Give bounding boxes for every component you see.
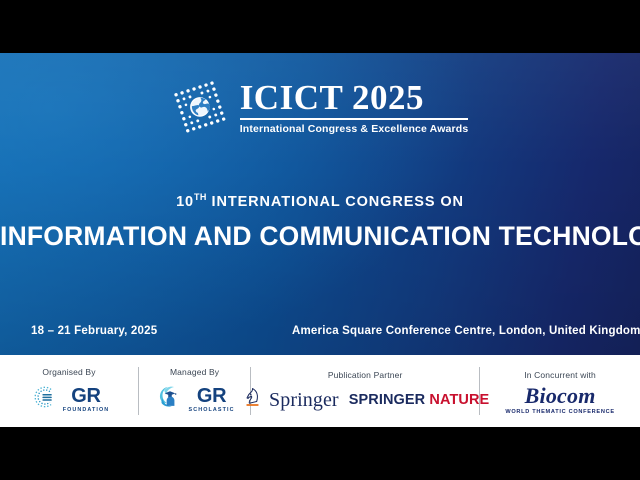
in-concurrent-with-logos: Biocom WORLD THEMATIC CONFERENCE <box>505 385 614 415</box>
springer-nature-logo[interactable]: SPRINGER NATURE <box>349 392 490 408</box>
kicker-text: INTERNATIONAL CONGRESS ON <box>207 194 464 210</box>
partner-cell-organised: Organised By <box>0 355 138 427</box>
partner-bar: Organised By <box>0 355 640 427</box>
springer-wordmark: Springer <box>269 390 339 410</box>
dotted-diamond-globe-icon <box>172 79 228 135</box>
managed-by-label: Managed By <box>170 367 219 377</box>
event-wordmark: ICICT 2025 <box>240 80 424 116</box>
managed-by-logos: GR SCHOLASTIC <box>155 382 235 417</box>
organised-by-logos: GR FOUNDATION <box>29 382 110 417</box>
gr-foundation-logo[interactable]: GR FOUNDATION <box>29 382 110 417</box>
gr-foundation-sub: FOUNDATION <box>63 408 110 413</box>
kicker-number: 10 <box>176 194 194 210</box>
event-kicker: 10TH INTERNATIONAL CONGRESS ON <box>0 188 640 211</box>
partner-cell-publication: Publication Partner Springer SPRINGER NA… <box>251 355 479 427</box>
springer-logo[interactable]: Springer <box>241 385 339 415</box>
gr-scholastic-sub: SCHOLASTIC <box>189 408 235 413</box>
partner-cell-concurrent: In Concurrent with Biocom WORLD THEMATIC… <box>480 355 640 427</box>
gr-scholastic-logo[interactable]: GR SCHOLASTIC <box>155 382 235 417</box>
springer-knight-icon <box>241 385 264 415</box>
event-logo-lockup: ICICT 2025 International Congress & Exce… <box>0 79 640 135</box>
biocom-sub: WORLD THEMATIC CONFERENCE <box>505 409 614 415</box>
event-dates: 18 – 21 February, 2025 <box>31 325 157 337</box>
letterbox-bottom <box>0 427 640 480</box>
logo-divider-rule <box>240 118 469 120</box>
gr-foundation-text: GR FOUNDATION <box>63 386 110 413</box>
conference-banner: ICICT 2025 International Congress & Exce… <box>0 53 640 355</box>
gr-foundation-emblem-icon <box>29 382 59 417</box>
organised-by-label: Organised By <box>42 367 95 377</box>
biocom-wordmark: Biocom <box>525 385 596 407</box>
event-tagline: International Congress & Excellence Awar… <box>240 123 469 135</box>
publication-partner-logos: Springer SPRINGER NATURE <box>241 385 489 415</box>
video-frame: ICICT 2025 International Congress & Exce… <box>0 0 640 480</box>
event-logo-text: ICICT 2025 International Congress & Exce… <box>240 80 469 135</box>
gr-foundation-name: GR <box>71 386 100 406</box>
event-venue: America Square Conference Centre, London… <box>292 325 640 337</box>
gr-scholastic-name: GR <box>197 386 226 406</box>
kicker-ordinal: TH <box>194 192 207 202</box>
letterbox-top <box>0 0 640 53</box>
in-concurrent-with-label: In Concurrent with <box>524 370 596 380</box>
gr-scholastic-emblem-icon <box>155 382 185 417</box>
partner-cell-managed: Managed By <box>139 355 250 427</box>
publication-partner-label: Publication Partner <box>328 370 403 380</box>
biocom-logo[interactable]: Biocom WORLD THEMATIC CONFERENCE <box>505 385 614 415</box>
gr-scholastic-text: GR SCHOLASTIC <box>189 386 235 413</box>
page-title: INFORMATION AND COMMUNICATION TECHNOLOGY <box>0 220 640 252</box>
heading-block: 10TH INTERNATIONAL CONGRESS ON INFORMATI… <box>0 188 640 252</box>
springer-nature-first: SPRINGER <box>349 392 426 408</box>
event-info-row: 18 – 21 February, 2025 America Square Co… <box>0 325 640 345</box>
